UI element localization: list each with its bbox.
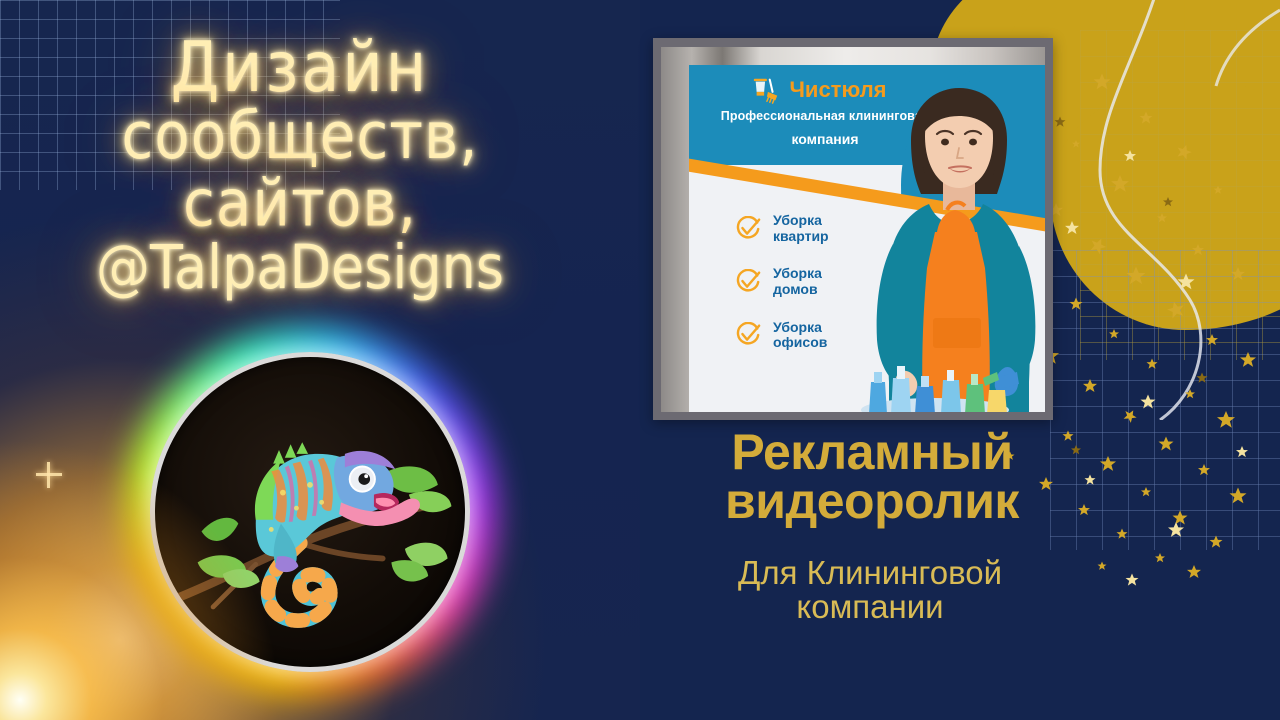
neon-line-4-handle: @TalpaDesigns: [0, 237, 600, 299]
plus-sparkle-icon: [36, 462, 62, 488]
broom-bucket-icon: [751, 75, 781, 105]
headline-line-1: Рекламный: [652, 428, 1092, 477]
poster-photo-frame: Чистюля Профессиональная клининговая ком…: [661, 47, 1045, 412]
check-circle-icon: [735, 269, 761, 295]
service-line-2: офисов: [773, 335, 827, 351]
service-item: Уборка домов: [735, 266, 829, 297]
service-line-1: Уборка: [773, 213, 829, 229]
check-circle-icon: [735, 322, 761, 348]
logo-dark-circle: [150, 352, 470, 672]
service-line-2: квартир: [773, 229, 829, 245]
service-line-1: Уборка: [773, 266, 822, 282]
subhead-line-1: Для Клининговой: [640, 556, 1100, 590]
slide-canvas: Дизайн сообществ, сайтов, @TalpaDesigns: [0, 0, 1280, 720]
cleaning-supplies-icon: [855, 348, 1015, 412]
subhead-line-2: компании: [640, 590, 1100, 624]
service-line-1: Уборка: [773, 320, 827, 336]
service-label: Уборка офисов: [773, 320, 827, 351]
neon-line-1: Дизайн: [0, 32, 600, 104]
service-line-2: домов: [773, 282, 822, 298]
sub-headline: Для Клининговой компании: [640, 556, 1100, 623]
chameleon-logo-badge: [150, 352, 470, 672]
headline-line-2: видеоролик: [652, 477, 1092, 526]
neon-line-3: сайтов,: [0, 170, 600, 237]
service-label: Уборка домов: [773, 266, 822, 297]
check-circle-icon: [735, 216, 761, 242]
poster-card: Чистюля Профессиональная клининговая ком…: [689, 65, 1045, 412]
cleaning-company-poster: Чистюля Профессиональная клининговая ком…: [653, 38, 1053, 420]
poster-services-list: Уборка квартир Уборка домов: [735, 213, 829, 373]
brand-tagline-neon: Дизайн сообществ, сайтов, @TalpaDesigns: [0, 32, 600, 300]
service-label: Уборка квартир: [773, 213, 829, 244]
service-item: Уборка квартир: [735, 213, 829, 244]
main-headline: Рекламный видеоролик: [652, 428, 1092, 526]
service-item: Уборка офисов: [735, 320, 829, 351]
neon-line-2: сообществ,: [0, 103, 600, 170]
chameleon-icon: [155, 357, 465, 667]
